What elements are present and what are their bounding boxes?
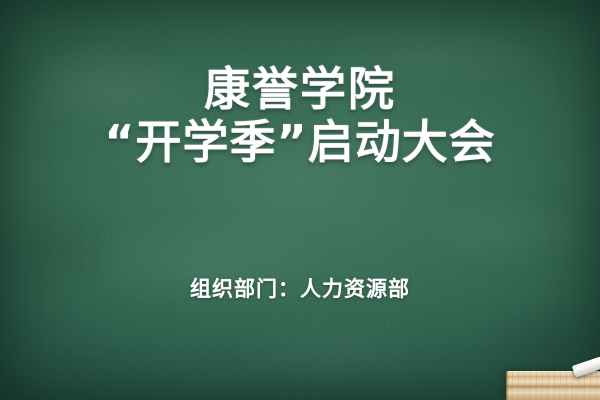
title-line-2: “开学季”启动大会: [0, 116, 600, 169]
chalk-ledge-left-edge: [506, 371, 509, 400]
slide-title: 康誉学院 “开学季”启动大会: [0, 63, 600, 169]
chalk-ledge-icon: [506, 371, 600, 400]
chalk-ledge-woodgrain: [506, 371, 600, 400]
slide-text-layer: 康誉学院 “开学季”启动大会 组织部门：人力资源部: [0, 0, 600, 400]
title-line-1: 康誉学院: [0, 63, 600, 116]
slide-subtitle: 组织部门：人力资源部: [0, 276, 600, 302]
slide-canvas: 康誉学院 “开学季”启动大会 组织部门：人力资源部: [0, 0, 600, 400]
